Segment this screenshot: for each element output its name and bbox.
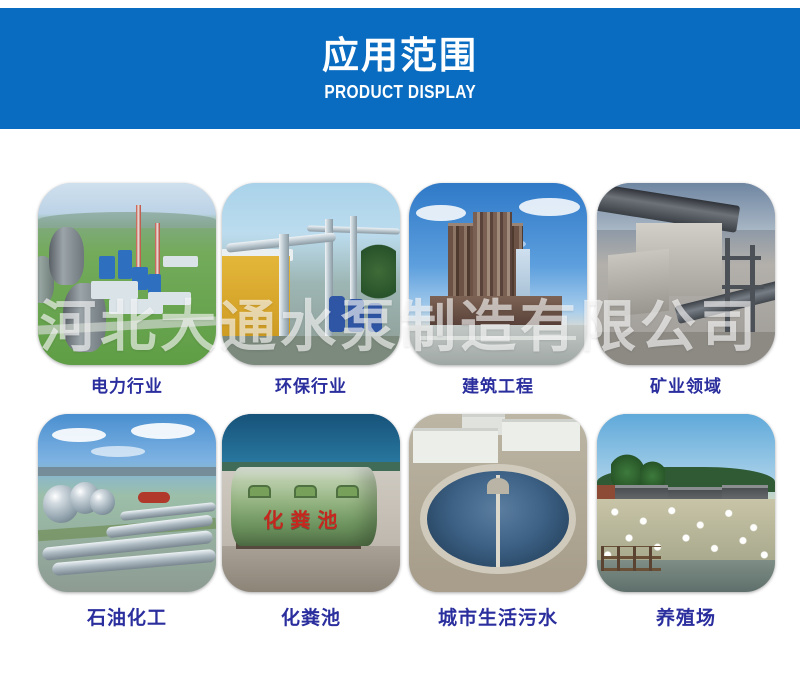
gallery-tile-caption: 环保行业 xyxy=(222,365,400,396)
tank-manhole-cap xyxy=(294,485,317,498)
petrochemical-plant-photo xyxy=(38,414,216,592)
thumbnail-petrochemical[interactable] xyxy=(38,414,216,592)
septic-tank-photo: 化粪池 xyxy=(222,414,400,592)
power-plant-photo xyxy=(38,183,216,365)
page-subtitle: PRODUCT DISPLAY xyxy=(324,83,476,101)
mining-machinery-photo xyxy=(597,183,775,365)
gallery-tile-caption: 化粪池 xyxy=(222,592,400,628)
gallery-tile-environmental[interactable]: 环保行业 xyxy=(222,183,400,396)
tank-painted-label: 化粪池 xyxy=(231,504,377,533)
tank-manhole-cap xyxy=(248,485,271,498)
gallery-tile-caption: 矿业领域 xyxy=(597,365,775,396)
gallery-tile-septic-tank[interactable]: 化粪池 化粪池 xyxy=(222,414,400,628)
gallery-tile-caption: 电力行业 xyxy=(38,365,216,396)
gallery-tile-caption: 建筑工程 xyxy=(409,365,587,396)
page-header-banner: 应用范围 PRODUCT DISPLAY xyxy=(0,8,800,129)
gallery-tile-petrochemical[interactable]: 石油化工 xyxy=(38,414,216,628)
thumbnail-mining-field[interactable] xyxy=(597,183,775,365)
gallery-row: 石油化工 化粪池 化粪池 xyxy=(0,414,800,664)
poultry-farm-photo xyxy=(597,414,775,592)
construction-building-photo xyxy=(409,183,587,365)
gallery-tile-caption: 石油化工 xyxy=(38,592,216,628)
thumbnail-septic-tank[interactable]: 化粪池 xyxy=(222,414,400,592)
gallery-row: 电力行业 环保行 xyxy=(0,183,800,433)
tank-manhole-cap xyxy=(336,485,359,498)
thumbnail-construction-engineering[interactable] xyxy=(409,183,587,365)
thumbnail-power-industry[interactable] xyxy=(38,183,216,365)
municipal-wastewater-photo xyxy=(409,414,587,592)
gallery-tile-mining[interactable]: 矿业领域 xyxy=(597,183,775,396)
environmental-plant-photo xyxy=(222,183,400,365)
thumbnail-environmental-industry[interactable] xyxy=(222,183,400,365)
application-gallery: 电力行业 环保行 xyxy=(0,129,800,688)
gallery-tile-farm[interactable]: 养殖场 xyxy=(597,414,775,628)
thumbnail-poultry-farm[interactable] xyxy=(597,414,775,592)
thumbnail-municipal-wastewater[interactable] xyxy=(409,414,587,592)
gallery-tile-power[interactable]: 电力行业 xyxy=(38,183,216,396)
gallery-tile-caption: 养殖场 xyxy=(597,592,775,628)
gallery-tile-municipal-wastewater[interactable]: 城市生活污水 xyxy=(409,414,587,628)
page-title: 应用范围 xyxy=(322,36,478,76)
gallery-tile-construction[interactable]: 建筑工程 xyxy=(409,183,587,396)
gallery-tile-caption: 城市生活污水 xyxy=(409,592,587,628)
